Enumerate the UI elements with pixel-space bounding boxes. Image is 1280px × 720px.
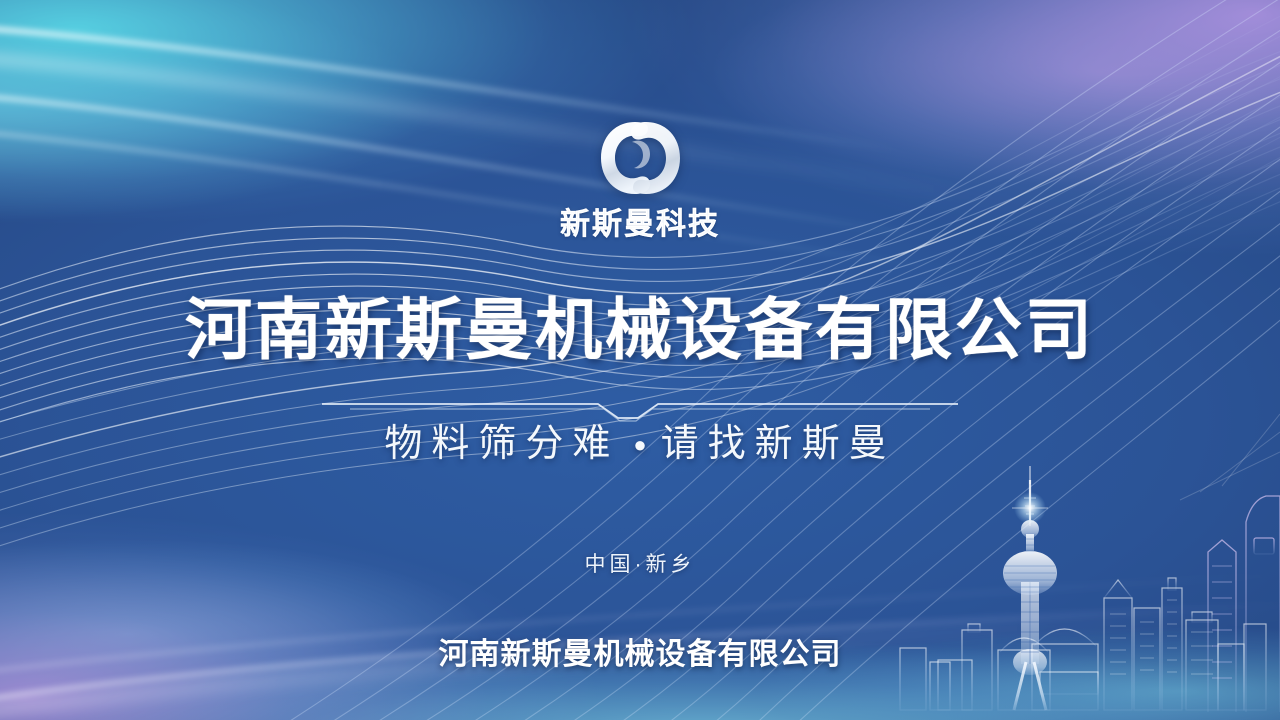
slogan-left: 物料筛分难 [384,423,619,465]
brand-wordmark: 新斯曼科技 [560,210,720,240]
v-notch-divider-icon [322,396,958,424]
slogan-bullet-icon: ● [633,434,646,456]
brand-logo: 新斯曼科技 [0,112,1280,240]
location-label: 中国·新乡 [0,554,1280,575]
slogan-right: 请找新斯曼 [661,423,896,465]
company-caption: 河南新斯曼机械设备有限公司 [0,640,1280,670]
title-slide: 新斯曼科技 河南新斯曼机械设备有限公司 物料筛分难●请找新斯曼 中国·新乡 河南… [0,0,1280,720]
swirl-s-monogram-icon [588,112,692,204]
page-title: 河南新斯曼机械设备有限公司 [0,298,1280,365]
slogan: 物料筛分难●请找新斯曼 [0,425,1280,463]
